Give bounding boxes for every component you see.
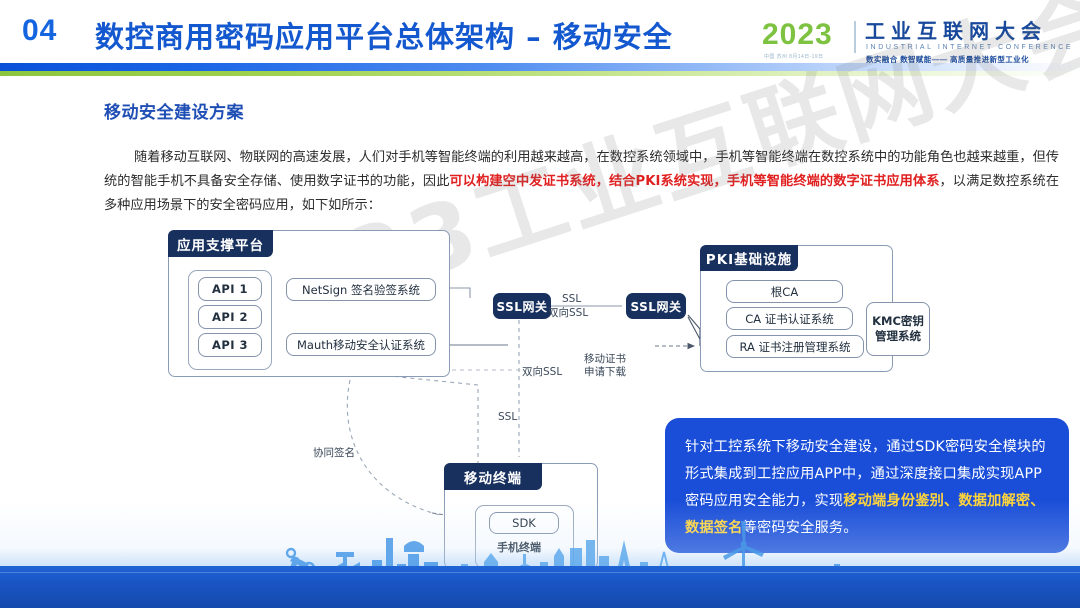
pki-node-ca[interactable]: CA 证书认证系统 (726, 307, 853, 330)
paragraph-highlight: 可以构建空中发证书系统，结合PKI系统实现，手机等智能终端的数字证书应用体系 (450, 174, 940, 189)
edge-label-mutual-ssl-left: 双向SSL (522, 366, 562, 379)
edge-label-ssl: SSL (562, 293, 581, 306)
ssl-gateway-right[interactable]: SSL网关 (626, 293, 686, 319)
service-netsign[interactable]: NetSign 签名验签系统 (286, 278, 436, 301)
api-item-1[interactable]: API 1 (198, 277, 262, 301)
edge-label-mutual-ssl-top: 双向SSL (548, 307, 588, 320)
header-rule-green (0, 71, 1080, 76)
logo-name-en: INDUSTRIAL INTERNET CONFERENCE (866, 44, 1073, 51)
logo-name-cn: 工业互联网大会 (865, 20, 1047, 42)
pki-node-root-ca[interactable]: 根CA (726, 280, 843, 303)
footer-sea-band (0, 566, 1080, 608)
api-item-2[interactable]: API 2 (198, 305, 262, 329)
panel-header-pki: PKI基础设施 (700, 245, 798, 271)
service-mauth[interactable]: Mauth移动安全认证系统 (286, 333, 436, 356)
pki-node-ra[interactable]: RA 证书注册管理系统 (726, 335, 864, 358)
section-title: 移动安全建设方案 (104, 98, 244, 123)
slide-header: 04 数控商用密码应用平台总体架构 – 移动安全 2023 中国 苏州 8月14… (0, 0, 1080, 62)
kmc-key-management-system[interactable]: KMC密钥 管理系统 (866, 302, 930, 356)
page-title: 数控商用密码应用平台总体架构 – 移动安全 (95, 14, 673, 56)
footer-decoration (0, 500, 1080, 608)
panel-header-app-platform: 应用支撑平台 (168, 230, 273, 257)
slide-canvas: 04 数控商用密码应用平台总体架构 – 移动安全 2023 中国 苏州 8月14… (0, 0, 1080, 608)
header-rule-blue (0, 63, 1080, 71)
conference-logo: 2023 中国 苏州 8月14日-19日 工业互联网大会 INDUSTRIAL … (762, 20, 1070, 66)
edge-label-cert-request: 移动证书 申请下载 (584, 353, 626, 379)
panel-application-support-platform: 应用支撑平台 API 1 API 2 API 3 NetSign 签名验签系统 … (168, 230, 450, 377)
logo-year-subtitle: 中国 苏州 8月14日-19日 (764, 53, 823, 60)
ssl-gateway-left[interactable]: SSL网关 (493, 293, 551, 319)
panel-header-mobile-terminal: 移动终端 (444, 463, 542, 490)
edge-label-cosign: 协同签名 (313, 447, 355, 460)
logo-divider (854, 21, 856, 53)
section-paragraph: 随着移动互联网、物联网的高速发展，人们对手机等智能终端的利用越来越高，在数控系统… (104, 146, 1059, 218)
logo-year: 2023 (762, 20, 833, 50)
section-number: 04 (22, 14, 57, 48)
panel-pki-infrastructure: PKI基础设施 根CA CA 证书认证系统 RA 证书注册管理系统 (700, 245, 893, 372)
edge-label-ssl-vertical: SSL (498, 411, 517, 424)
api-item-3[interactable]: API 3 (198, 333, 262, 357)
